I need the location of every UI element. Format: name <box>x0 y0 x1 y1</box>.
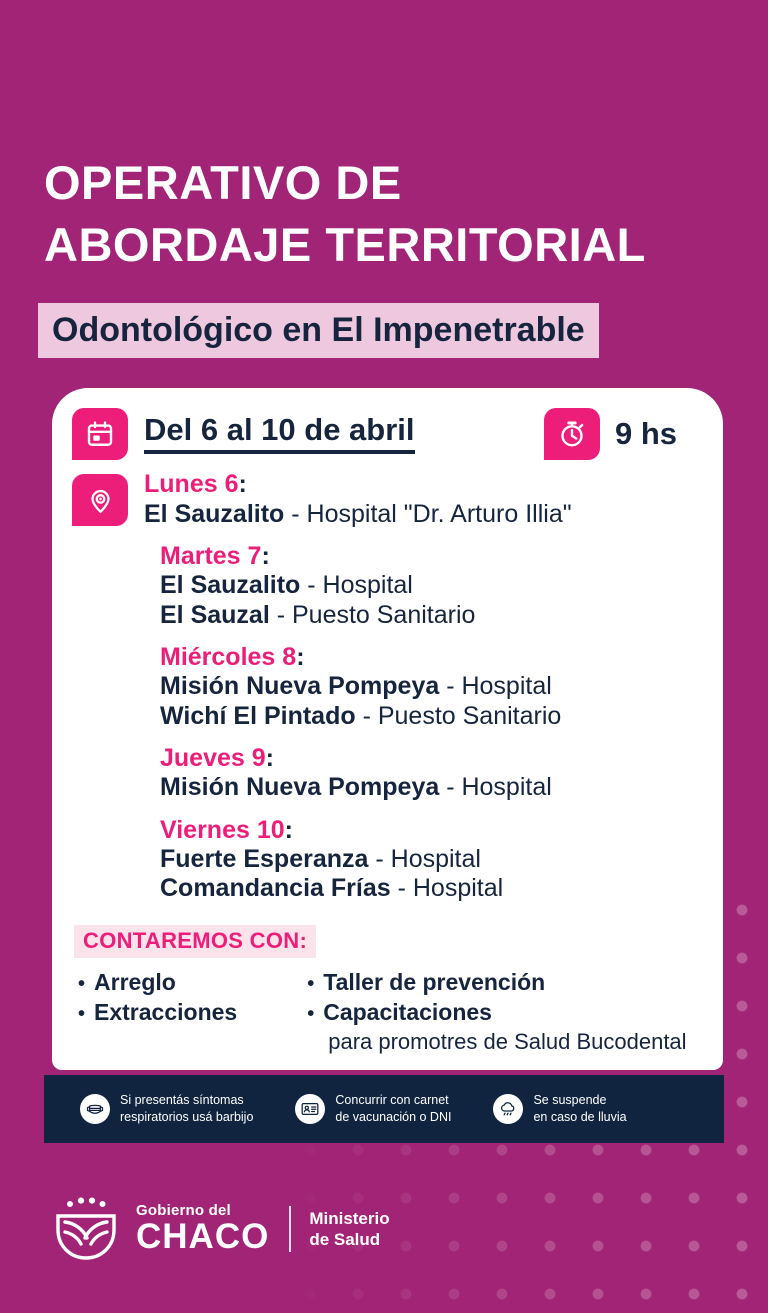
headline-line-2: ABORDAJE TERRITORIAL <box>44 214 744 276</box>
advisory-line-2: respiratorios usá barbijo <box>120 1109 253 1126</box>
ministry-line-2: de Salud <box>309 1229 389 1250</box>
advisory-bar: Si presentás síntomas respiratorios usá … <box>44 1075 724 1143</box>
service-label: Arreglo <box>94 967 176 998</box>
venue-line: El Sauzalito - Hospital "Dr. Arturo Illi… <box>144 500 572 529</box>
schedule-day: Jueves 9: Misión Nueva Pompeya - Hospita… <box>72 744 723 803</box>
schedule-day: Martes 7: El Sauzalito - Hospital El Sau… <box>72 542 723 630</box>
schedule-day: Lunes 6: El Sauzalito - Hospital "Dr. Ar… <box>72 470 723 529</box>
services-columns: •Arreglo •Extracciones •Taller de preven… <box>74 967 723 1057</box>
day-name: Jueves 9: <box>160 744 552 774</box>
day-body: Martes 7: El Sauzalito - Hospital El Sau… <box>160 542 475 630</box>
time-row: 9 hs <box>544 408 723 460</box>
venue-line: Wichí El Pintado - Puesto Sanitario <box>160 702 561 731</box>
schedule-day: Viernes 10: Fuerte Esperanza - Hospital … <box>72 816 723 904</box>
rain-cloud-icon <box>493 1094 523 1124</box>
bullet-icon: • <box>78 971 85 998</box>
chaco-leaf-logo <box>50 1196 122 1262</box>
schedule-day: Miércoles 8: Misión Nueva Pompeya - Hosp… <box>72 643 723 731</box>
venue-line: Fuerte Esperanza - Hospital <box>160 845 503 874</box>
advisory-text: Concurrir con carnet de vacunación o DNI <box>335 1092 451 1126</box>
bullet-icon: • <box>78 1001 85 1028</box>
services-column-left: •Arreglo •Extracciones <box>78 967 237 1057</box>
ministry-label: Ministerio de Salud <box>309 1208 389 1251</box>
day-name: Viernes 10: <box>160 816 503 846</box>
day-name: Lunes 6: <box>144 470 572 500</box>
venue-line: Comandancia Frías - Hospital <box>160 874 503 903</box>
day-body: Miércoles 8: Misión Nueva Pompeya - Hosp… <box>160 643 561 731</box>
subtitle-band: Odontológico en El Impenetrable <box>38 303 599 358</box>
service-label: Capacitaciones <box>323 997 492 1028</box>
venue-line: El Sauzal - Puesto Sanitario <box>160 601 475 630</box>
day-name: Miércoles 8: <box>160 643 561 673</box>
logo-divider <box>289 1206 291 1252</box>
service-subnote: para promotres de Salud Bucodental <box>328 1028 686 1057</box>
service-item: •Arreglo <box>78 967 237 998</box>
schedule-list: Lunes 6: El Sauzalito - Hospital "Dr. Ar… <box>52 460 723 904</box>
day-name: Martes 7: <box>160 542 475 572</box>
advisory-text: Si presentás síntomas respiratorios usá … <box>120 1092 253 1126</box>
service-item: •Extracciones <box>78 997 237 1028</box>
service-label: Extracciones <box>94 997 237 1028</box>
logo-wordmark: Gobierno del CHACO <box>136 1202 269 1256</box>
face-mask-icon <box>80 1094 110 1124</box>
bullet-icon: • <box>307 971 314 998</box>
footer-logo: Gobierno del CHACO Ministerio de Salud <box>50 1196 390 1262</box>
service-item: •Capacitaciones <box>307 997 686 1028</box>
advisory-item: Se suspende en caso de lluvia <box>493 1092 626 1126</box>
advisory-text: Se suspende en caso de lluvia <box>533 1092 626 1126</box>
bullet-icon: • <box>307 1001 314 1028</box>
day-body: Jueves 9: Misión Nueva Pompeya - Hospita… <box>160 744 552 803</box>
services-section: CONTAREMOS CON: •Arreglo •Extracciones •… <box>52 917 723 1057</box>
info-card: Del 6 al 10 de abril 9 hs <box>52 388 723 1070</box>
services-column-right: •Taller de prevención •Capacitaciones pa… <box>307 967 686 1057</box>
date-range-text: Del 6 al 10 de abril <box>144 414 415 454</box>
venue-line: El Sauzalito - Hospital <box>160 571 475 600</box>
stopwatch-icon <box>544 408 600 460</box>
day-body: Lunes 6: El Sauzalito - Hospital "Dr. Ar… <box>144 470 572 529</box>
advisory-line-1: Concurrir con carnet <box>335 1092 451 1109</box>
advisory-item: Concurrir con carnet de vacunación o DNI <box>295 1092 451 1126</box>
map-pin-icon <box>72 474 128 526</box>
date-row: Del 6 al 10 de abril 9 hs <box>52 388 723 460</box>
headline-line-1: OPERATIVO DE <box>44 152 744 214</box>
advisory-line-2: en caso de lluvia <box>533 1109 626 1126</box>
service-label: Taller de prevención <box>323 967 545 998</box>
logo-chaco-text: CHACO <box>136 1219 269 1256</box>
id-card-icon <box>295 1094 325 1124</box>
time-text: 9 hs <box>615 416 677 452</box>
venue-line: Misión Nueva Pompeya - Hospital <box>160 672 561 701</box>
day-body: Viernes 10: Fuerte Esperanza - Hospital … <box>160 816 503 904</box>
venue-line: Misión Nueva Pompeya - Hospital <box>160 773 552 802</box>
advisory-line-2: de vacunación o DNI <box>335 1109 451 1126</box>
ministry-line-1: Ministerio <box>309 1208 389 1229</box>
services-title: CONTAREMOS CON: <box>74 925 316 958</box>
service-item: •Taller de prevención <box>307 967 686 998</box>
advisory-line-1: Si presentás síntomas <box>120 1092 253 1109</box>
calendar-icon <box>72 408 128 460</box>
advisory-item: Si presentás síntomas respiratorios usá … <box>80 1092 253 1126</box>
subtitle-text: Odontológico en El Impenetrable <box>52 311 585 349</box>
advisory-line-1: Se suspende <box>533 1092 626 1109</box>
page-title: OPERATIVO DE ABORDAJE TERRITORIAL <box>44 152 744 276</box>
